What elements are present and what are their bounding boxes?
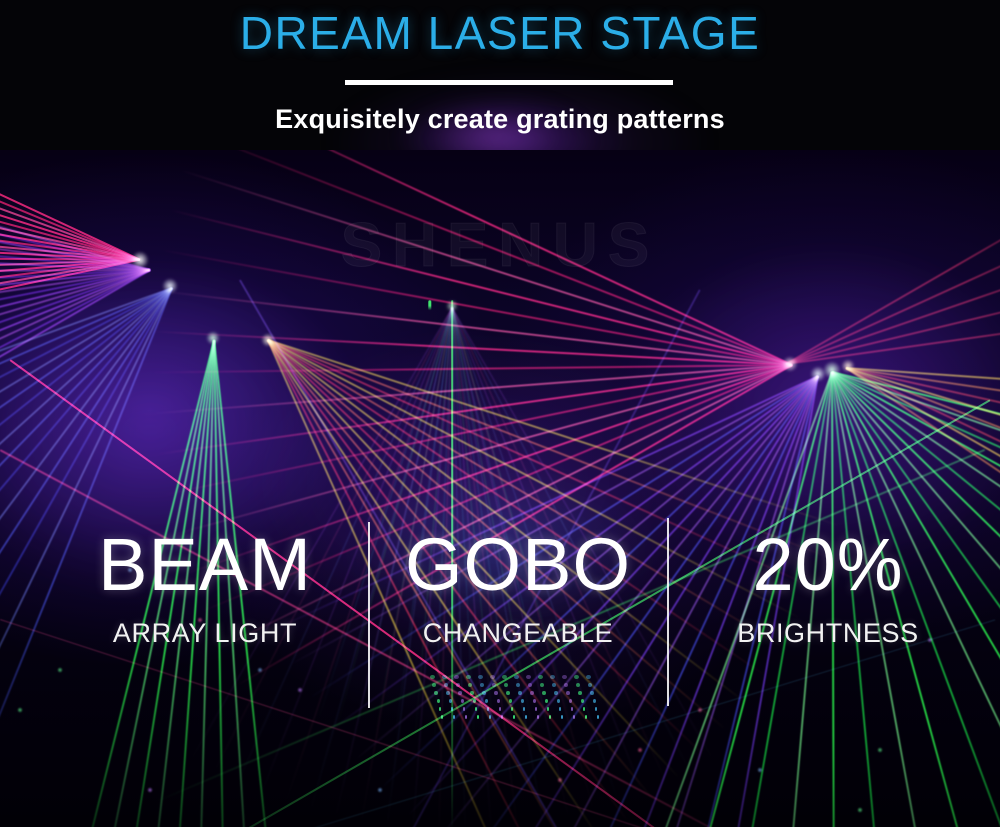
laser-stage-photo: SHENUS BEAM ARRAY LIGHT GOBO CHANGEABLE …	[0, 150, 1000, 827]
page-subtitle: Exquisitely create grating patterns	[0, 104, 1000, 135]
title-divider	[345, 80, 673, 85]
stage-background	[0, 150, 1000, 827]
page-title: DREAM LASER STAGE	[0, 6, 1000, 60]
promo-banner: DREAM LASER STAGE Exquisitely create gra…	[0, 0, 1000, 827]
banner-header: DREAM LASER STAGE Exquisitely create gra…	[0, 0, 1000, 150]
